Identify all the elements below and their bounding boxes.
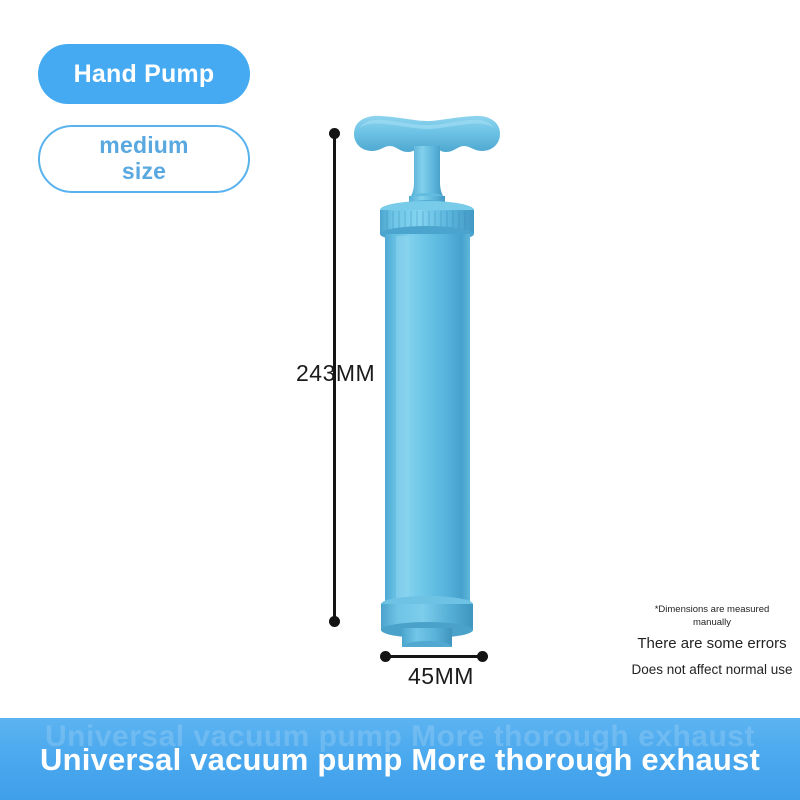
disclaimer-line-2: manually [624, 617, 800, 630]
hand-pump-illustration [340, 112, 515, 647]
width-dimension-dot-left [380, 651, 391, 662]
width-dimension-dot-right [477, 651, 488, 662]
pump-cylinder-body [385, 234, 470, 604]
disclaimer-line-4: Does not affect normal use [624, 660, 800, 680]
height-dimension-dot-top [329, 128, 340, 139]
product-image-canvas: Hand Pump medium size 243MM 45MM [0, 0, 800, 800]
height-dimension-dot-bottom [329, 616, 340, 627]
disclaimer-line-1: *Dimensions are measured [624, 604, 800, 617]
pump-nozzle [402, 628, 452, 647]
bottom-banner: Universal vacuum pump More thorough exha… [0, 718, 800, 800]
badge-size-line-2: size [122, 159, 166, 185]
badge-product-name: Hand Pump [38, 44, 250, 104]
badge-size-line-1: medium [99, 133, 188, 159]
pump-handle-stem [409, 146, 445, 210]
width-dimension-line [385, 655, 482, 658]
banner-title: Universal vacuum pump More thorough exha… [0, 742, 800, 778]
disclaimer-line-3: There are some errors [624, 633, 800, 655]
width-dimension-label: 45MM [408, 663, 474, 690]
badge-size-variant: medium size [38, 125, 250, 193]
measurement-disclaimer: *Dimensions are measured manually There … [624, 604, 800, 680]
